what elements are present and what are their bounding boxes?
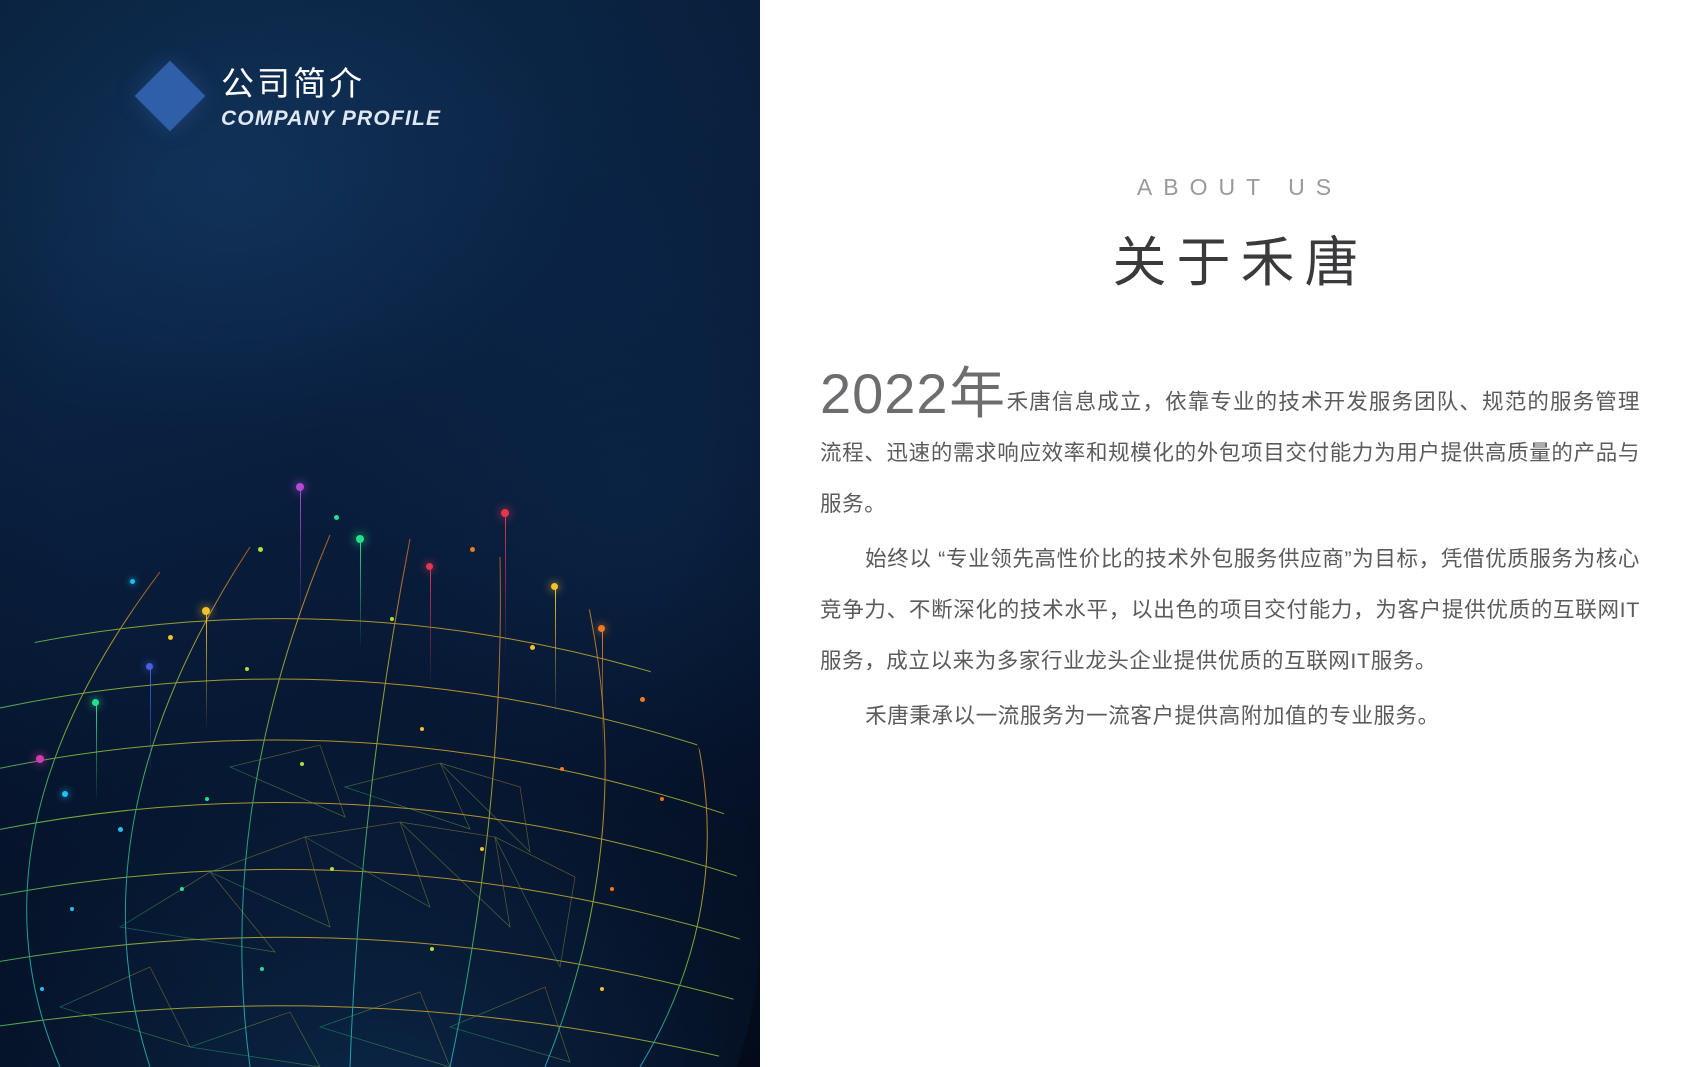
logo-title-en: COMPANY PROFILE: [221, 107, 441, 131]
section-kicker: ABOUT US: [760, 174, 1707, 201]
paragraph-founding: 2022年禾唐信息成立，依靠专业的技术开发服务团队、规范的服务管理流程、迅速的需…: [820, 368, 1640, 530]
paragraph-mission: 始终以 “专业领先高性价比的技术外包服务供应商”为目标，凭借优质服务为核心竞争力…: [820, 534, 1640, 687]
page-title: 关于禾唐: [760, 218, 1707, 297]
diamond-icon: [135, 61, 206, 132]
globe-network-illustration: [0, 367, 760, 1067]
year-badge: 2022年: [820, 362, 1007, 425]
left-visual-panel: 公司简介 COMPANY PROFILE: [0, 0, 760, 1067]
content-panel: ABOUT US 关于禾唐 2022年禾唐信息成立，依靠专业的技术开发服务团队、…: [760, 0, 1707, 1067]
about-body: 2022年禾唐信息成立，依靠专业的技术开发服务团队、规范的服务管理流程、迅速的需…: [820, 368, 1640, 746]
company-logo: 公司简介 COMPANY PROFILE: [145, 62, 441, 131]
slide-root: 公司简介 COMPANY PROFILE ABOUT US 关于禾唐 2022年…: [0, 0, 1707, 1067]
paragraph-promise: 禾唐秉承以一流服务为一流客户提供高附加值的专业服务。: [820, 691, 1640, 742]
particle-sparks: [0, 367, 760, 1067]
logo-text-block: 公司简介 COMPANY PROFILE: [221, 64, 441, 131]
logo-title-cn: 公司简介: [221, 64, 441, 104]
